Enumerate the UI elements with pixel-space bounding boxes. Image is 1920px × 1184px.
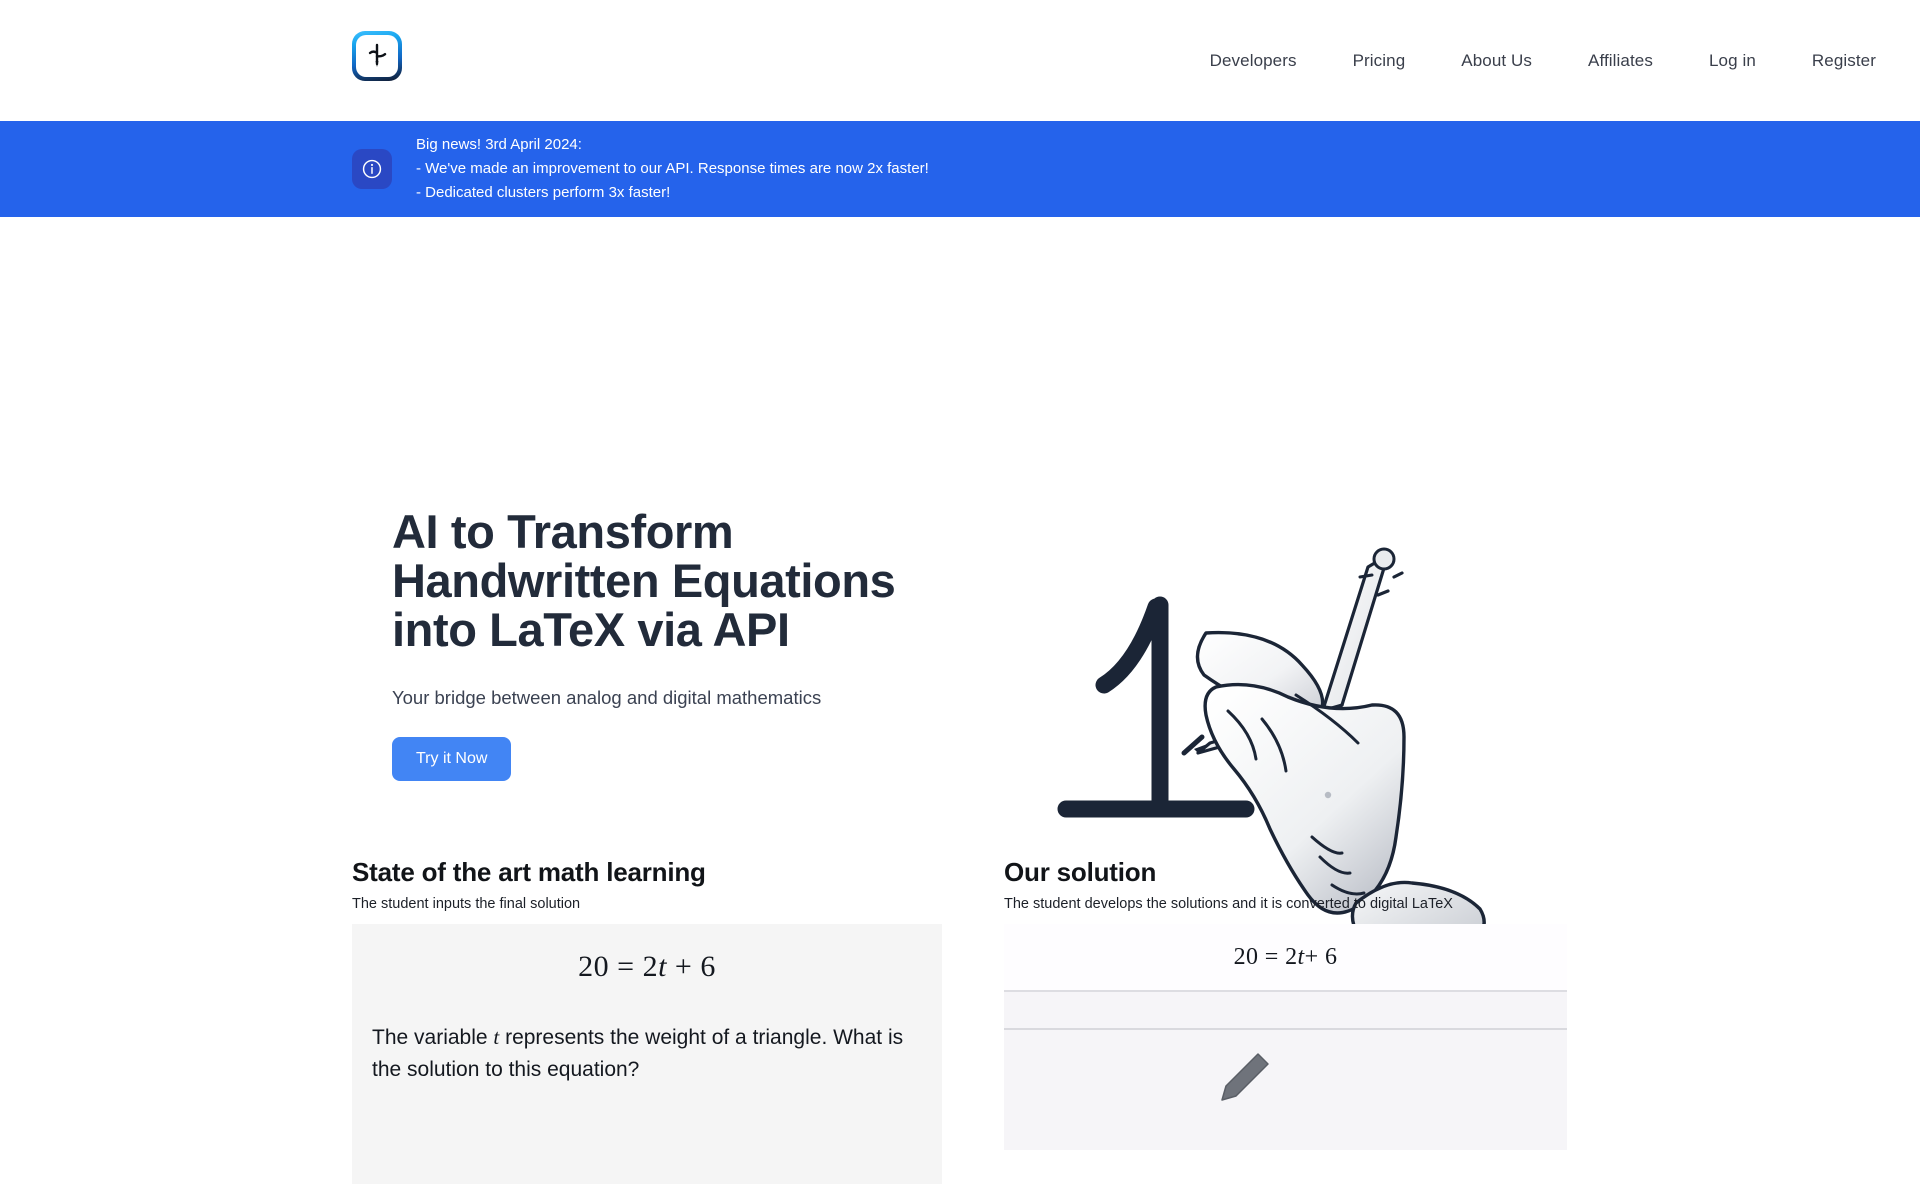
right-equation-lhs: 20 = 2 [1234, 944, 1298, 971]
site-logo[interactable] [352, 31, 402, 81]
hero-copy: AI to Transform Handwritten Equations in… [392, 507, 952, 781]
right-equation: 20 = 2t + 6 [1004, 924, 1567, 992]
column-state-of-the-art: State of the art math learning The stude… [352, 855, 942, 1184]
left-subheading: The student inputs the final solution [352, 894, 942, 914]
banner-line-3: - Dedicated clusters perform 3x faster! [416, 181, 929, 205]
logo-gradient-frame [352, 31, 402, 81]
main-navigation: Developers Pricing About Us Affiliates L… [1210, 0, 1920, 121]
right-subheading: The student develops the solutions and i… [1004, 894, 1567, 914]
nav-developers[interactable]: Developers [1210, 43, 1297, 79]
left-equation-variable: t [658, 950, 667, 983]
banner-text: Big news! 3rd April 2024: - We've made a… [416, 133, 929, 205]
right-equation-variable: t [1298, 944, 1305, 971]
column-our-solution: Our solution The student develops the so… [1004, 855, 1567, 1184]
nav-about-us[interactable]: About Us [1461, 43, 1532, 79]
page-title: AI to Transform Handwritten Equations in… [392, 507, 952, 654]
nav-affiliates[interactable]: Affiliates [1588, 43, 1653, 79]
info-circle-icon [352, 149, 392, 189]
site-header: Developers Pricing About Us Affiliates L… [0, 0, 1920, 121]
hero-section: AI to Transform Handwritten Equations in… [0, 217, 1920, 817]
left-equation-lhs: 20 = 2 [578, 950, 658, 983]
try-it-now-button[interactable]: Try it Now [392, 737, 511, 781]
left-prompt-part-1: The variable [372, 1026, 493, 1049]
right-blank-row-2 [1004, 1030, 1567, 1150]
right-blank-row-1 [1004, 992, 1567, 1030]
left-prompt-text: The variable t represents the weight of … [352, 1021, 942, 1086]
nav-pricing[interactable]: Pricing [1353, 43, 1406, 79]
nav-register[interactable]: Register [1812, 43, 1876, 79]
hero-subtitle: Your bridge between analog and digital m… [392, 685, 952, 711]
left-example-card: 20 = 2t + 6 The variable t represents th… [352, 924, 942, 1184]
right-example-card: 20 = 2t + 6 [1004, 924, 1567, 1184]
left-heading: State of the art math learning [352, 855, 942, 889]
right-heading: Our solution [1004, 855, 1567, 889]
left-equation: 20 = 2t + 6 [352, 950, 942, 984]
banner-line-1: Big news! 3rd April 2024: [416, 133, 929, 157]
left-equation-rhs: + 6 [667, 950, 716, 983]
announcement-banner: Big news! 3rd April 2024: - We've made a… [0, 121, 1920, 217]
right-equation-rhs: + 6 [1305, 944, 1338, 971]
pen-icon [364, 43, 390, 69]
pen-tip-icon [1214, 1048, 1274, 1108]
nav-log-in[interactable]: Log in [1709, 43, 1756, 79]
banner-line-2: - We've made an improvement to our API. … [416, 157, 929, 181]
banner-content: Big news! 3rd April 2024: - We've made a… [0, 133, 929, 205]
logo-inner-white [356, 35, 398, 77]
